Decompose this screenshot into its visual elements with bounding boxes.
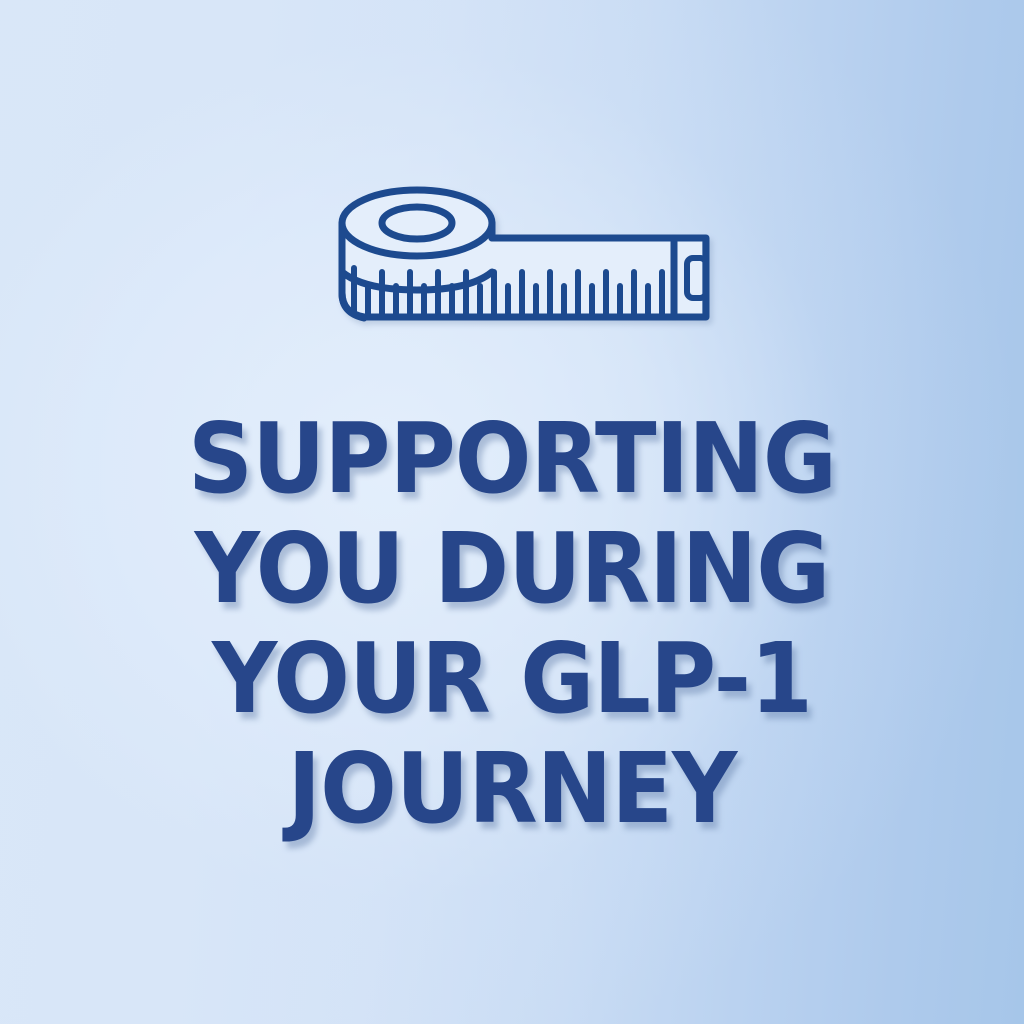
headline-line-4: JOURNEY bbox=[73, 734, 951, 844]
headline-line-3: YOUR GLP-1 bbox=[73, 624, 951, 734]
poster-canvas: SUPPORTING YOU DURING YOUR GLP-1 JOURNEY bbox=[0, 0, 1024, 1024]
headline-line-1: SUPPORTING bbox=[73, 404, 951, 514]
tape-measure-icon bbox=[302, 160, 722, 335]
tape-measure-icon-container bbox=[0, 160, 1024, 335]
headline-line-2: YOU DURING bbox=[73, 514, 951, 624]
headline: SUPPORTING YOU DURING YOUR GLP-1 JOURNEY bbox=[0, 404, 1024, 844]
roll-inner-hole-ellipse bbox=[382, 207, 452, 239]
